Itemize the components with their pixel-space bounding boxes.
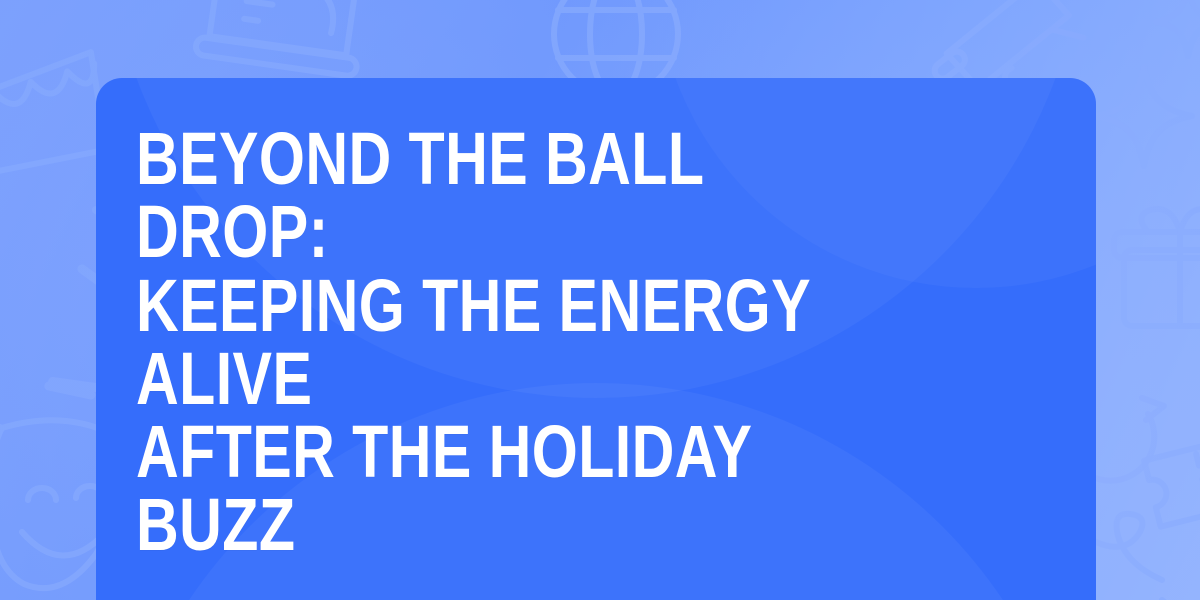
ticket-icon [1140,416,1200,536]
event-banner: Beyond the Ball Drop: Keeping the Energy… [0,0,1200,600]
event-card: Beyond the Ball Drop: Keeping the Energy… [96,78,1096,600]
event-title: Beyond the Ball Drop: Keeping the Energy… [136,122,859,562]
gift-box-icon [1108,198,1200,348]
event-datetime: Tue, 10 Feb, 2026 at 12:00 PM [136,596,877,600]
sparkle-icon [1092,58,1200,168]
sparkle-icon [1150,0,1200,62]
